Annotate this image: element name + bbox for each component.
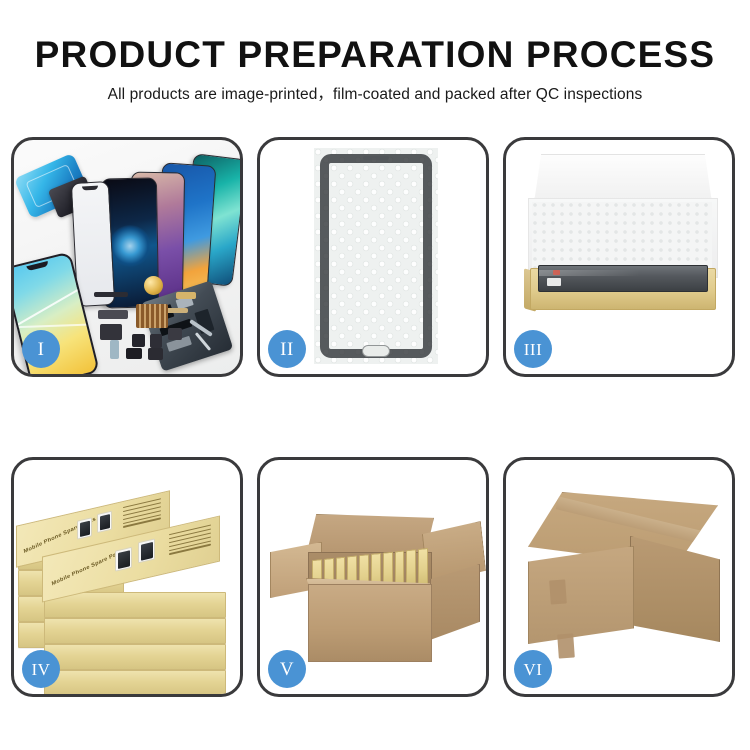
step-panel-3: III — [503, 137, 735, 377]
ic-chip-part — [150, 334, 162, 348]
shipping-carton-open — [272, 500, 480, 668]
screen-crack — [14, 323, 92, 327]
wallpaper-swirl — [109, 224, 152, 267]
packed-screen — [538, 265, 708, 292]
page-title: PRODUCT PREPARATION PROCESS — [0, 0, 750, 75]
speaker-part — [144, 276, 163, 295]
chip-array-part — [136, 304, 168, 328]
step-panel-5: V — [257, 457, 489, 697]
spare-parts-cluster — [92, 278, 202, 368]
step-panel-1: I — [11, 137, 243, 377]
home-button-cutout — [362, 345, 390, 357]
product-preparation-infographic: PRODUCT PREPARATION PROCESS All products… — [0, 0, 750, 750]
camera-module-part — [126, 348, 142, 359]
step-badge-3: III — [514, 330, 552, 368]
step-badge-6: VI — [514, 650, 552, 688]
bubble-wrap — [314, 148, 438, 364]
steps-grid: I II — [11, 137, 739, 737]
stacked-box — [44, 592, 226, 618]
screen-crack — [14, 286, 83, 327]
battery-part — [110, 340, 119, 359]
step-badge-4: IV — [22, 650, 60, 688]
stacked-box — [44, 644, 226, 670]
ic-chip-part — [132, 334, 145, 347]
carton-tab — [549, 579, 567, 604]
box-thumbnail — [77, 517, 92, 539]
foam-padding — [532, 202, 712, 274]
connector-part — [176, 292, 196, 299]
box-label — [547, 278, 561, 286]
page-subtitle: All products are image-printed，film-coat… — [0, 75, 750, 105]
box-brand-text: Mobile Phone Spare Parts — [51, 549, 124, 588]
ic-chip-part — [168, 328, 182, 340]
box-lid-back — [534, 154, 712, 203]
box-thumbnail — [138, 538, 155, 563]
stacked-box — [44, 618, 226, 644]
bracket-part — [100, 324, 122, 340]
packed-box — [418, 548, 428, 589]
step-panel-4: Mobile Phone Spare Parts Mobile Phone Sp… — [11, 457, 243, 697]
box-thumbnail — [115, 547, 132, 572]
carton-side-panel — [630, 536, 720, 642]
speaker-module-part — [148, 348, 163, 360]
phone-fan — [74, 156, 240, 296]
step-panel-6: VI — [503, 457, 735, 697]
phone-glass-panel — [320, 154, 432, 358]
carton-tab — [557, 633, 575, 658]
phone-notch — [26, 261, 49, 271]
flex-cable-part — [94, 292, 128, 297]
flex-cable-part — [98, 310, 128, 319]
box-spec-lines — [169, 525, 211, 558]
shipping-carton-sealed — [522, 484, 722, 672]
step-badge-1: I — [22, 330, 60, 368]
carton-front-panel — [528, 546, 634, 644]
box-thumbnail — [97, 511, 112, 533]
step-badge-5: V — [268, 650, 306, 688]
stacked-box — [44, 670, 226, 694]
qc-sticker — [553, 270, 560, 275]
header: PRODUCT PREPARATION PROCESS All products… — [0, 0, 750, 104]
box-spec-lines — [123, 498, 161, 530]
carton-front-panel — [308, 584, 432, 662]
phone-notch — [82, 186, 98, 191]
step-panel-2: II — [257, 137, 489, 377]
step-badge-2: II — [268, 330, 306, 368]
